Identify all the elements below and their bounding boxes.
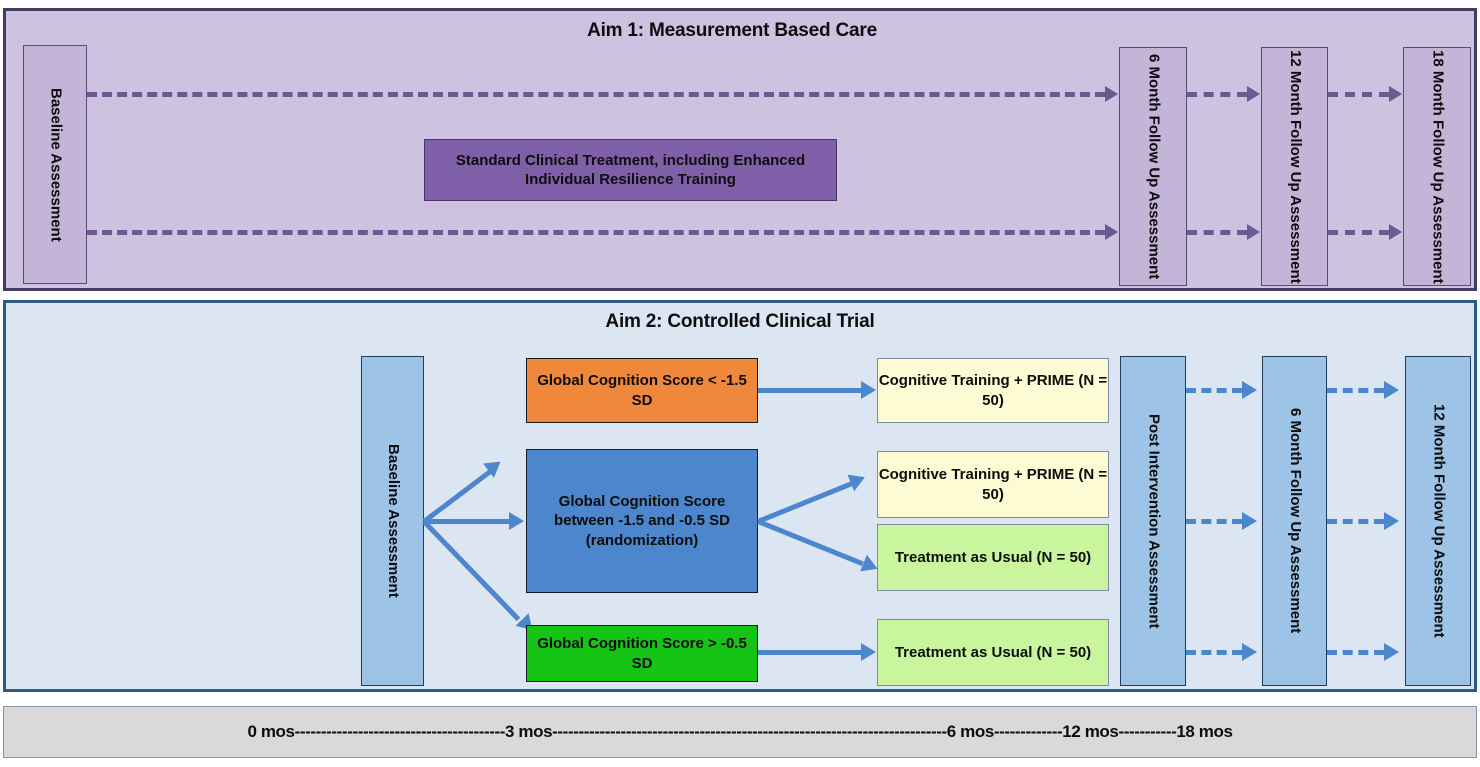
aim2-blue-to-arm2-arrow <box>848 469 869 491</box>
aim1-title: Aim 1: Measurement Based Care <box>6 20 1458 42</box>
aim2-orange-to-arm1-line <box>758 388 861 393</box>
aim1-bottom-connector-line <box>87 230 1105 235</box>
aim2-12-month-followup-label: 12 Month Follow Up Assessment <box>1430 404 1447 638</box>
aim2-6mo-to-12mo-line-bottom <box>1327 650 1384 655</box>
aim1-bottom-connector-arrow-2 <box>1247 224 1260 240</box>
aim2-post-to-6mo-line-top <box>1186 388 1242 393</box>
aim2-post-to-6mo-line-mid <box>1186 519 1242 524</box>
aim1-top-connector-arrow-1 <box>1105 86 1118 102</box>
aim2-baseline-to-orange-line <box>422 467 495 524</box>
aim1-panel: Aim 1: Measurement Based Care Baseline A… <box>3 8 1477 291</box>
aim1-6-month-followup-box[interactable]: 6 Month Follow Up Assessment <box>1119 47 1187 286</box>
aim1-12-month-followup-box[interactable]: 12 Month Follow Up Assessment <box>1261 47 1328 286</box>
aim1-top-connector-line <box>87 92 1105 97</box>
timeline-label: 0 mos-----------------------------------… <box>4 722 1476 742</box>
aim2-post-intervention-assessment-box[interactable]: Post Intervention Assessment <box>1120 356 1186 686</box>
aim1-baseline-assessment-box[interactable]: Baseline Assessment <box>23 45 87 284</box>
aim1-top-connector-line-2 <box>1187 92 1247 97</box>
aim1-18-month-followup-label: 18 Month Follow Up Assessment <box>1429 50 1446 284</box>
aim2-6mo-to-12mo-arrow-bottom <box>1384 643 1399 661</box>
aim1-top-connector-arrow-2 <box>1247 86 1260 102</box>
aim2-post-to-6mo-arrow-bottom <box>1242 643 1257 661</box>
aim2-arm-2-box[interactable]: Cognitive Training + PRIME (N = 50) <box>877 451 1109 518</box>
aim2-post-to-6mo-line-bottom <box>1186 650 1242 655</box>
aim2-post-to-6mo-arrow-top <box>1242 381 1257 399</box>
aim2-title: Aim 2: Controlled Clinical Trial <box>6 311 1474 333</box>
aim2-panel: Aim 2: Controlled Clinical Trial Baselin… <box>3 300 1477 692</box>
aim1-6-month-followup-label: 6 Month Follow Up Assessment <box>1145 54 1162 279</box>
aim2-post-to-6mo-arrow-mid <box>1242 512 1257 530</box>
aim1-bottom-connector-line-3 <box>1328 230 1389 235</box>
aim2-6-month-followup-box[interactable]: 6 Month Follow Up Assessment <box>1262 356 1327 686</box>
aim1-top-connector-line-3 <box>1328 92 1389 97</box>
aim2-blue-to-arm3-line <box>757 519 864 566</box>
aim2-baseline-assessment-box[interactable]: Baseline Assessment <box>361 356 424 686</box>
aim2-stratum-mid-box[interactable]: Global Cognition Score between -1.5 and … <box>526 449 758 593</box>
timeline-bar: 0 mos-----------------------------------… <box>3 706 1477 758</box>
aim2-arm-3-box[interactable]: Treatment as Usual (N = 50) <box>877 524 1109 591</box>
aim2-orange-to-arm1-arrow <box>861 381 876 399</box>
aim1-bottom-connector-line-2 <box>1187 230 1247 235</box>
aim2-6mo-to-12mo-arrow-top <box>1384 381 1399 399</box>
aim1-bottom-connector-arrow-1 <box>1105 224 1118 240</box>
aim2-6-month-followup-label: 6 Month Follow Up Assessment <box>1286 408 1303 633</box>
aim2-stratum-low-box[interactable]: Global Cognition Score < -1.5 SD <box>526 358 758 423</box>
aim1-12-month-followup-label: 12 Month Follow Up Assessment <box>1286 50 1303 284</box>
aim1-baseline-assessment-label: Baseline Assessment <box>47 88 64 242</box>
aim2-arm-1-box[interactable]: Cognitive Training + PRIME (N = 50) <box>877 358 1109 423</box>
aim2-arm-4-box[interactable]: Treatment as Usual (N = 50) <box>877 619 1109 686</box>
aim2-blue-to-arm2-line <box>757 480 856 524</box>
aim2-12-month-followup-box[interactable]: 12 Month Follow Up Assessment <box>1405 356 1471 686</box>
aim1-18-month-followup-box[interactable]: 18 Month Follow Up Assessment <box>1403 47 1471 286</box>
aim1-standard-treatment-box[interactable]: Standard Clinical Treatment, including E… <box>424 139 837 201</box>
aim2-stratum-high-box[interactable]: Global Cognition Score > -0.5 SD <box>526 625 758 682</box>
aim1-bottom-connector-arrow-3 <box>1389 224 1402 240</box>
aim1-top-connector-arrow-3 <box>1389 86 1402 102</box>
aim2-green-to-arm4-arrow <box>861 643 876 661</box>
aim2-6mo-to-12mo-line-top <box>1327 388 1384 393</box>
aim2-baseline-assessment-label: Baseline Assessment <box>384 444 401 598</box>
aim2-6mo-to-12mo-line-mid <box>1327 519 1384 524</box>
aim2-baseline-to-green-line <box>422 520 520 621</box>
aim2-baseline-to-blue-line <box>424 519 509 524</box>
aim2-6mo-to-12mo-arrow-mid <box>1384 512 1399 530</box>
aim2-post-intervention-assessment-label: Post Intervention Assessment <box>1145 414 1162 629</box>
aim2-green-to-arm4-line <box>758 650 861 655</box>
aim2-baseline-to-blue-arrow <box>509 512 524 530</box>
